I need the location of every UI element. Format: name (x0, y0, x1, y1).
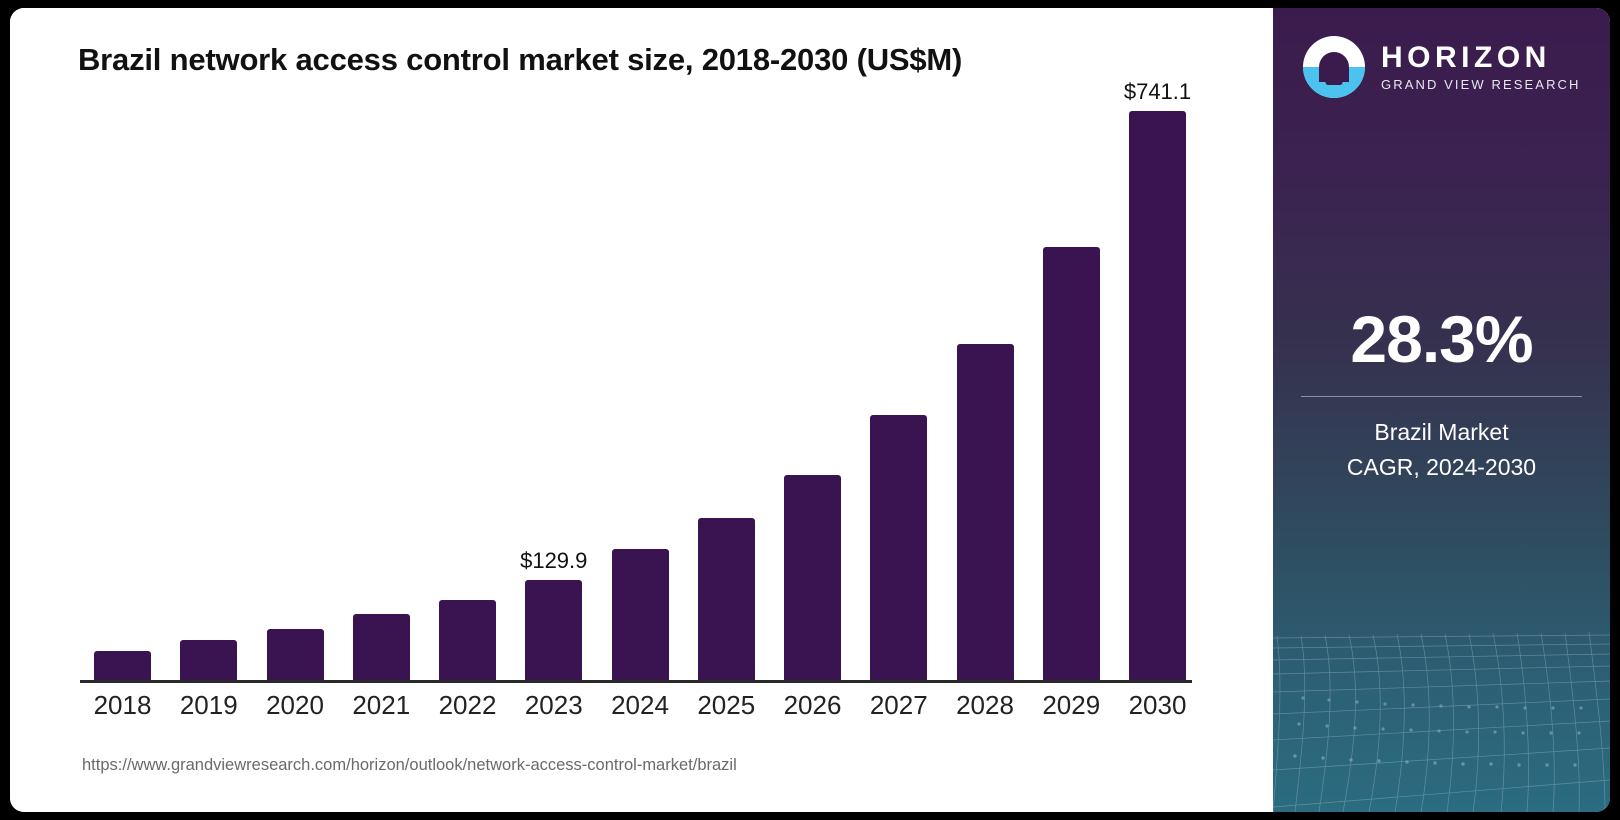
bar (1129, 111, 1186, 680)
source-url[interactable]: https://www.grandviewresearch.com/horizo… (82, 756, 737, 775)
bar-column (253, 94, 338, 680)
bar (525, 580, 582, 680)
x-axis-tick-label: 2025 (684, 690, 769, 736)
x-axis-tick-label: 2023 (511, 690, 596, 736)
cagr-caption-line1: Brazil Market (1293, 415, 1590, 450)
x-axis-tick-label: 2019 (166, 690, 251, 736)
bar-value-label: $741.1 (1124, 79, 1191, 105)
branding-panel: HORIZON GRAND VIEW RESEARCH 28.3% Brazil… (1273, 8, 1610, 812)
bar (612, 549, 669, 680)
cagr-value: 28.3% (1293, 306, 1590, 372)
bar (698, 518, 755, 680)
bar (267, 629, 324, 680)
wireframe-mesh-decoration (1273, 602, 1610, 812)
x-axis-tick-label: 2028 (943, 690, 1028, 736)
bar-column: $129.9 (511, 94, 596, 680)
x-axis-tick-label: 2020 (253, 690, 338, 736)
cagr-caption-line2: CAGR, 2024-2030 (1293, 450, 1590, 485)
bar (784, 475, 841, 680)
cagr-block: 28.3% Brazil Market CAGR, 2024-2030 (1273, 306, 1610, 484)
logo-subtitle: GRAND VIEW RESEARCH (1381, 77, 1581, 92)
screenshot-frame: Brazil network access control market siz… (0, 0, 1620, 820)
bar-column (856, 94, 941, 680)
bar (180, 640, 237, 680)
bar-column (425, 94, 510, 680)
bar-column (80, 94, 165, 680)
chart-area: Brazil network access control market siz… (10, 8, 1255, 812)
bar-column (943, 94, 1028, 680)
x-axis-tick-label: 2021 (339, 690, 424, 736)
bar-column (339, 94, 424, 680)
x-axis-tick-label: 2026 (770, 690, 855, 736)
x-axis-tick-label: 2024 (598, 690, 683, 736)
bar-column (1029, 94, 1114, 680)
bar-column (166, 94, 251, 680)
chart-card: Brazil network access control market siz… (10, 8, 1610, 812)
x-axis-tick-label: 2018 (80, 690, 165, 736)
divider (1301, 396, 1582, 397)
bar-column: $741.1 (1115, 94, 1200, 680)
bar (870, 415, 927, 680)
bar-value-label: $129.9 (520, 548, 587, 574)
x-axis-tick-label: 2027 (856, 690, 941, 736)
bar (1043, 247, 1100, 680)
bar-column (684, 94, 769, 680)
x-axis-tick-label: 2030 (1115, 690, 1200, 736)
x-axis-line (80, 680, 1192, 683)
x-axis-labels: 2018201920202021202220232024202520262027… (80, 690, 1200, 736)
bar (353, 614, 410, 680)
bar-column (770, 94, 855, 680)
bar-series: $129.9$741.1 (80, 94, 1200, 680)
x-axis-tick-label: 2029 (1029, 690, 1114, 736)
horizon-sun-icon (1303, 36, 1365, 98)
logo-title: HORIZON (1381, 42, 1581, 74)
bar-column (598, 94, 683, 680)
bar (957, 344, 1014, 680)
x-axis-tick-label: 2022 (425, 690, 510, 736)
page-title: Brazil network access control market siz… (78, 42, 962, 78)
bar (439, 600, 496, 680)
logo: HORIZON GRAND VIEW RESEARCH (1303, 36, 1581, 98)
bar (94, 651, 151, 680)
